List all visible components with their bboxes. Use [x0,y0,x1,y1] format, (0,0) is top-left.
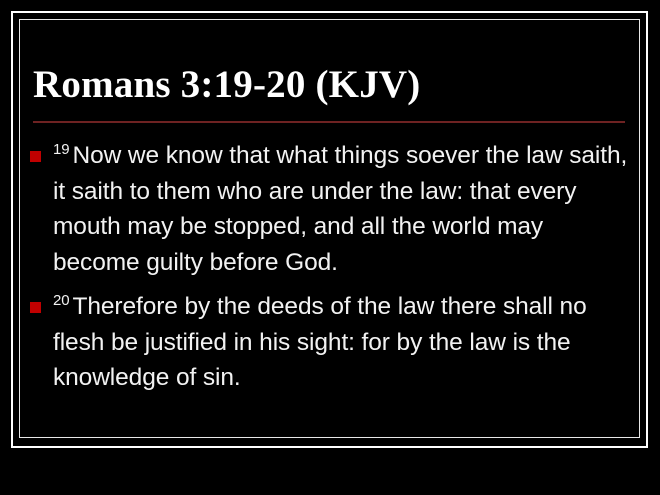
slide-canvas: Romans 3:19-20 (KJV) 19Now we know that … [0,0,660,495]
bullet-text: 19Now we know that what things soever th… [53,138,630,280]
slide-body: 19Now we know that what things soever th… [30,138,630,405]
page-title: Romans 3:19-20 (KJV) [33,62,623,108]
square-bullet-icon [30,151,41,162]
square-bullet-icon [30,302,41,313]
list-item: 19Now we know that what things soever th… [30,138,630,280]
title-block: Romans 3:19-20 (KJV) [33,62,623,108]
bullet-text: 20Therefore by the deeds of the law ther… [53,289,630,396]
title-divider [33,121,625,123]
verse-number: 20 [53,292,73,309]
verse-number: 19 [53,141,73,158]
list-item: 20Therefore by the deeds of the law ther… [30,289,630,396]
verse-body: Now we know that what things soever the … [53,142,627,276]
verse-body: Therefore by the deeds of the law there … [53,293,587,391]
